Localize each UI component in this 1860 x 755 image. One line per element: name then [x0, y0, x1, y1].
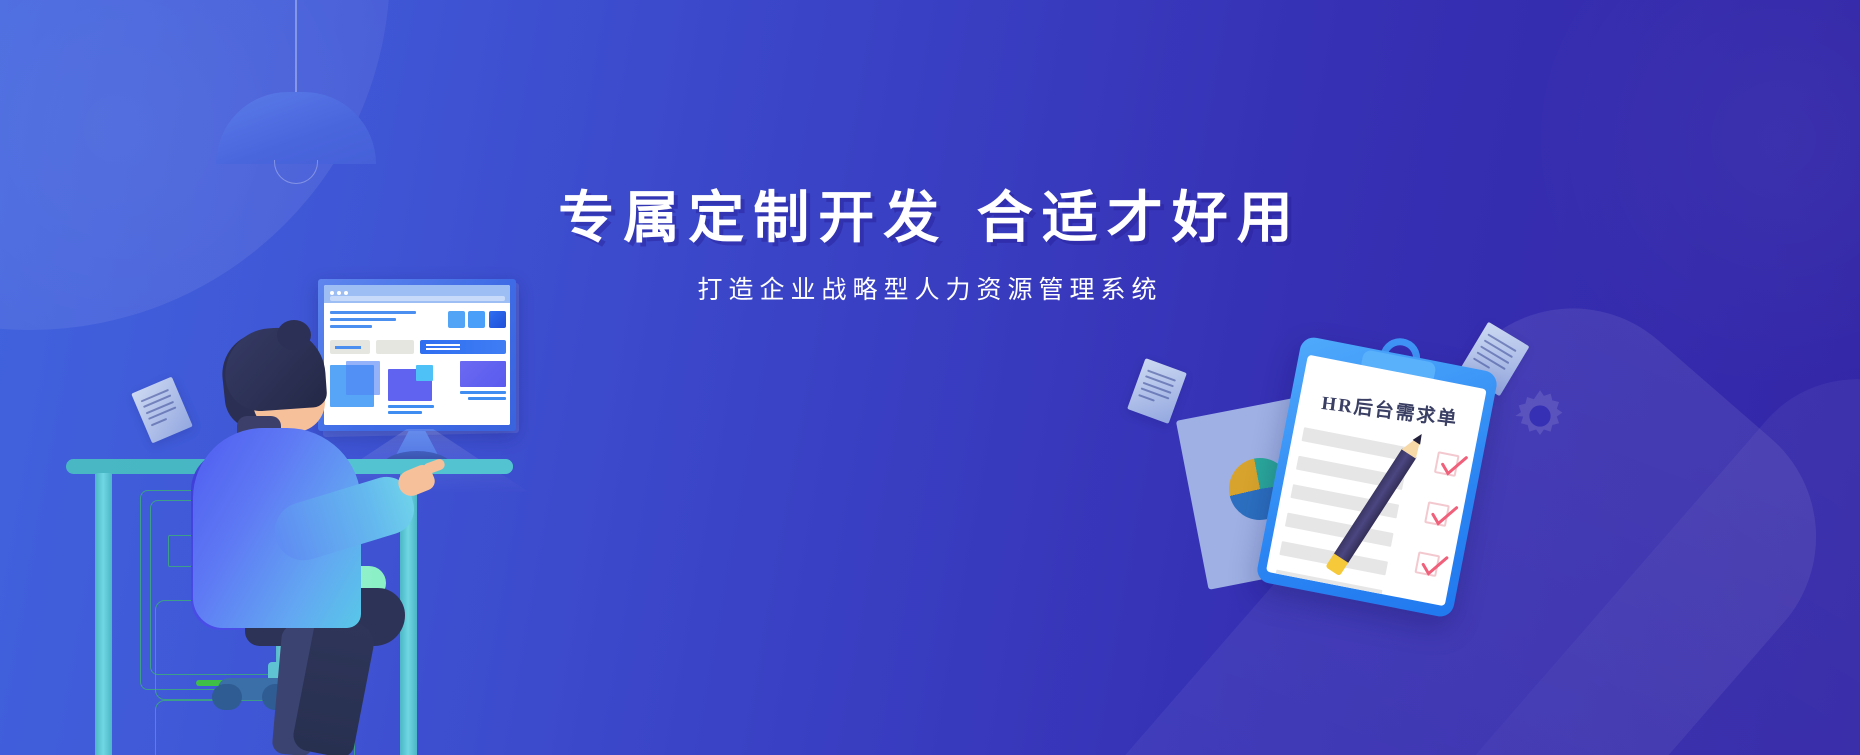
clipboard-lines: [1271, 427, 1410, 606]
person-finger: [422, 458, 446, 476]
hero-text-block: 专属定制开发 合适才好用 打造企业战略型人力资源管理系统: [0, 186, 1860, 306]
lamp-shade: [216, 92, 376, 164]
person-illustration: [185, 320, 515, 755]
hero-banner: HR后台需求单: [0, 0, 1860, 755]
desk-leg: [95, 473, 112, 755]
checkbox-checked: [1405, 601, 1431, 606]
clipboard: HR后台需求单: [1255, 335, 1499, 619]
checkbox-checked: [1414, 551, 1440, 577]
person-hair: [222, 325, 327, 414]
lamp-bulb: [274, 160, 318, 184]
hr-requirement-clipboard: HR后台需求单: [1185, 330, 1515, 620]
floating-document-icon: [1127, 358, 1187, 424]
clipboard-title: HR后台需求单: [1298, 385, 1482, 434]
gear-icon: [1512, 388, 1568, 444]
page-title: 专属定制开发 合适才好用: [0, 186, 1860, 252]
floating-document-icon: [131, 377, 193, 444]
clipboard-paper: HR后台需求单: [1266, 355, 1487, 607]
person-hair-bun: [277, 320, 311, 350]
checkbox-checked: [1424, 501, 1450, 527]
checkbox-checked: [1434, 451, 1460, 477]
lamp-cord: [295, 0, 297, 93]
pendant-lamp-icon: [216, 0, 376, 175]
clipboard-frame: HR后台需求单: [1255, 335, 1499, 619]
page-subtitle: 打造企业战略型人力资源管理系统: [0, 270, 1860, 306]
